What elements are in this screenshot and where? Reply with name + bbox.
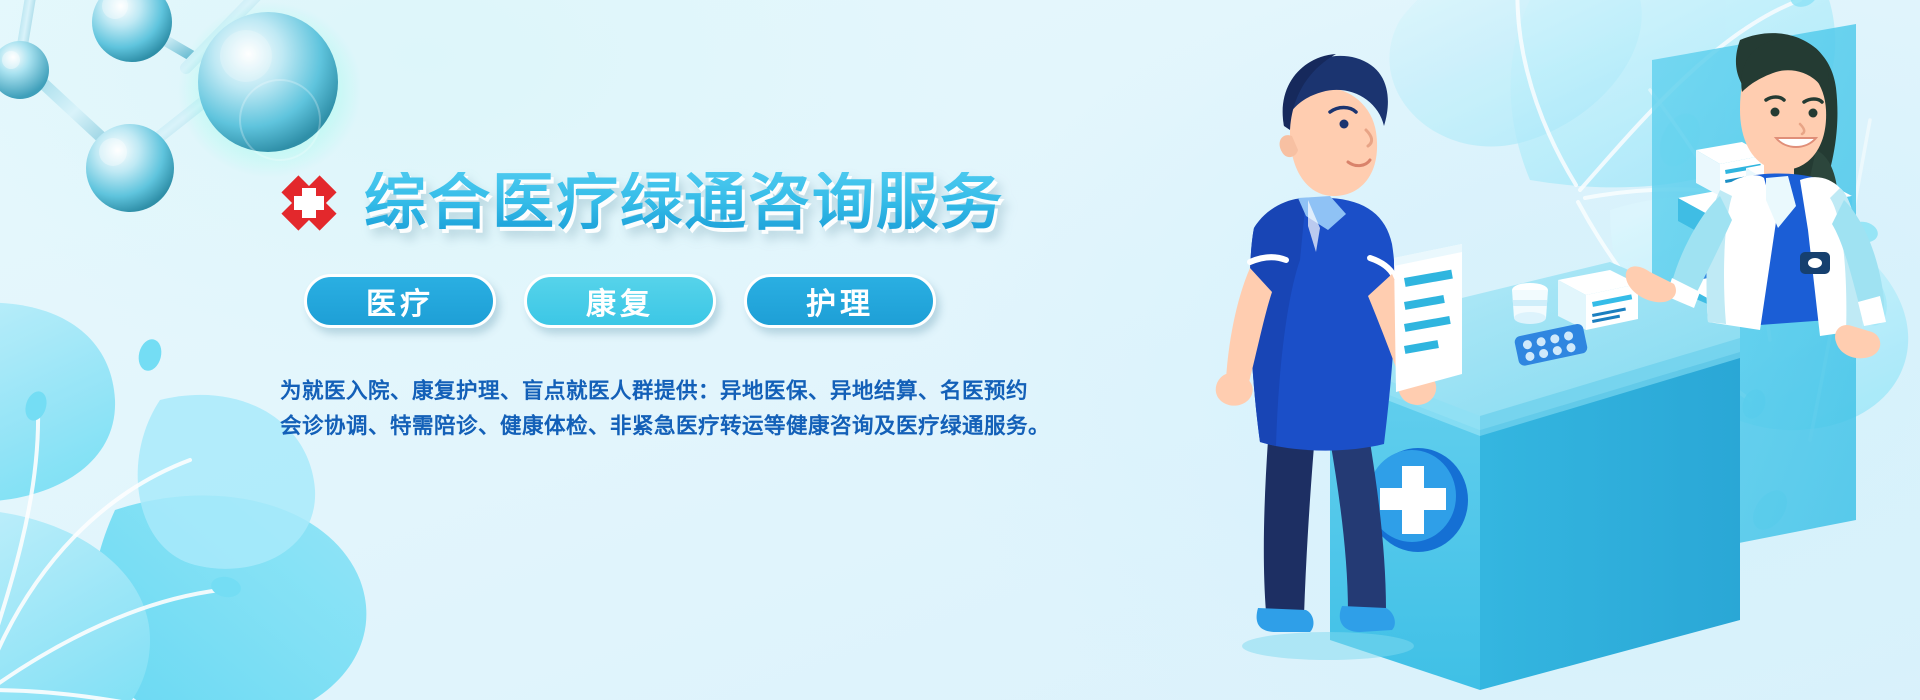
description-line-1: 为就医入院、康复护理、盲点就医人群提供：异地医保、异地结算、名医预约 (280, 374, 1052, 409)
service-tag-rehabilitation[interactable]: 康复 (524, 274, 716, 328)
service-tag-list: 医疗 康复 护理 (304, 274, 1052, 328)
red-cross-icon (272, 166, 346, 240)
prescription-paper (1394, 244, 1462, 392)
page-title: 综合医疗绿通咨询服务 (364, 172, 1004, 234)
pharmacy-illustration (1180, 0, 1920, 700)
medicine-box (1558, 270, 1638, 330)
banner-content: 综合医疗绿通咨询服务 医疗 康复 护理 为就医入院、康复护理、盲点就医人群提供：… (272, 160, 1052, 445)
medical-service-banner: 综合医疗绿通咨询服务 医疗 康复 护理 为就医入院、康复护理、盲点就医人群提供：… (0, 0, 1920, 700)
description-line-2: 会诊协调、特需陪诊、健康体检、非紧急医疗转运等健康咨询及医疗绿通服务。 (280, 409, 1052, 444)
service-tag-medical[interactable]: 医疗 (304, 274, 496, 328)
counter-cross-emblem (1368, 448, 1468, 552)
medicine-jar (1512, 283, 1548, 324)
service-tag-nursing[interactable]: 护理 (744, 274, 936, 328)
title-row: 综合医疗绿通咨询服务 (272, 160, 1052, 246)
description-text: 为就医入院、康复护理、盲点就医人群提供：异地医保、异地结算、名医预约 会诊协调、… (280, 374, 1052, 445)
